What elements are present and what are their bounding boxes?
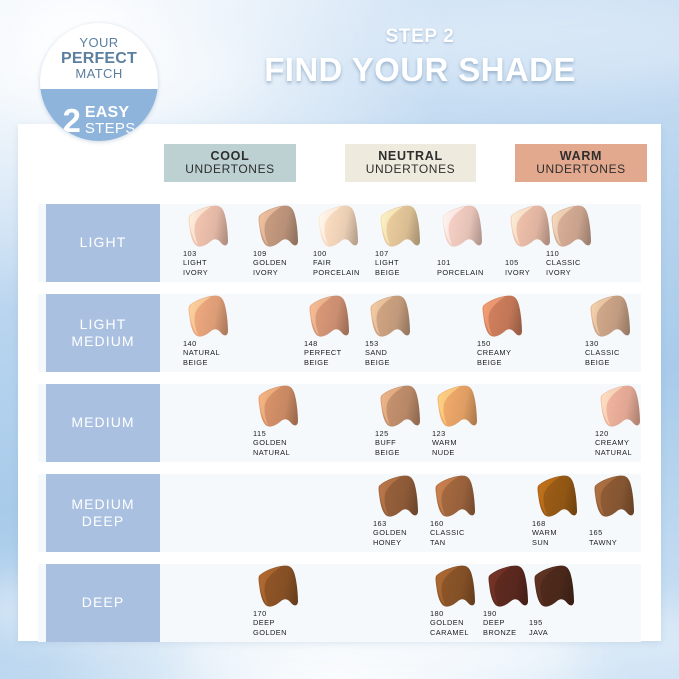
- shade-code: 160: [430, 519, 504, 529]
- shade-swatch-103[interactable]: 103LIGHTIVORY: [183, 204, 257, 282]
- shade-caption: 101PORCELAIN: [437, 258, 511, 278]
- shade-caption: 195JAVA: [529, 618, 603, 638]
- swatch-area: 163GOLDENHONEY160CLASSICTAN168WARMSUN165…: [18, 474, 661, 552]
- shade-swatch-150[interactable]: 150CREAMYBEIGE: [477, 294, 551, 372]
- shade-name: TAN: [430, 538, 504, 548]
- shade-swatch-101[interactable]: 101PORCELAIN: [437, 204, 511, 282]
- shade-code: 103: [183, 249, 257, 259]
- page-title: FIND YOUR SHADE: [200, 51, 640, 89]
- shade-code: 110: [546, 249, 620, 259]
- shade-code: 120: [595, 429, 669, 439]
- perfect-match-badge: YOUR PERFECT MATCH 2 EASY STEPS: [40, 23, 158, 141]
- shade-code: 195: [529, 618, 603, 628]
- shade-code: 140: [183, 339, 257, 349]
- shade-caption: 110CLASSICIVORY: [546, 249, 620, 278]
- undertone-header-warm: WARMUNDERTONES: [515, 144, 647, 182]
- shade-name: BEIGE: [365, 358, 439, 368]
- shade-code: 130: [585, 339, 659, 349]
- shade-name: NATURAL: [253, 448, 327, 458]
- title-block: STEP 2 FIND YOUR SHADE: [200, 26, 640, 89]
- shade-row: MEDIUM115GOLDENNATURAL125BUFFBEIGE123WAR…: [18, 384, 661, 462]
- shade-caption: 123WARMNUDE: [432, 429, 506, 458]
- shade-name: JAVA: [529, 628, 603, 638]
- shade-name: CLASSIC: [430, 528, 504, 538]
- shade-caption: 140NATURALBEIGE: [183, 339, 257, 368]
- shade-name: BEIGE: [477, 358, 551, 368]
- badge-step-number: 2: [62, 105, 80, 136]
- shade-swatch-165[interactable]: 165TAWNY: [589, 474, 663, 552]
- shade-row: LIGHT103LIGHTIVORY109GOLDENIVORY100FAIRP…: [18, 204, 661, 282]
- foundation-smear-shape: [526, 560, 583, 616]
- shade-swatch-170[interactable]: 170DEEPGOLDEN: [253, 564, 327, 642]
- shade-name: DEEP: [253, 618, 327, 628]
- shade-name: PORCELAIN: [437, 268, 511, 278]
- undertone-header-neutral: NEUTRALUNDERTONES: [345, 144, 476, 182]
- shade-caption: 160CLASSICTAN: [430, 519, 504, 548]
- shade-code: 115: [253, 429, 327, 439]
- shade-caption: 165TAWNY: [589, 528, 663, 548]
- shade-code: 153: [365, 339, 439, 349]
- foundation-smear-shape: [434, 200, 491, 256]
- swatch-area: 140NATURALBEIGE148PERFECTBEIGE153SANDBEI…: [18, 294, 661, 372]
- step-label: STEP 2: [200, 26, 640, 48]
- badge-line-perfect: PERFECT: [40, 50, 158, 67]
- badge-steps-text: EASY STEPS: [85, 105, 136, 136]
- shade-name: WARM: [432, 438, 506, 448]
- shade-name: GOLDEN: [253, 438, 327, 448]
- shade-code: 101: [437, 258, 511, 268]
- shade-color-smear: [586, 470, 643, 526]
- shade-swatch-140[interactable]: 140NATURALBEIGE: [183, 294, 257, 372]
- shade-name: GOLDEN: [253, 628, 327, 638]
- shade-name: CLASSIC: [546, 258, 620, 268]
- undertone-sublabel: UNDERTONES: [185, 163, 275, 176]
- shade-name: BEIGE: [183, 358, 257, 368]
- shade-swatch-120[interactable]: 120CREAMYNATURAL: [595, 384, 669, 462]
- shade-row: LIGHTMEDIUM140NATURALBEIGE148PERFECTBEIG…: [18, 294, 661, 372]
- badge-line-match: MATCH: [40, 67, 158, 81]
- shade-swatch-160[interactable]: 160CLASSICTAN: [430, 474, 504, 552]
- shade-row: MEDIUMDEEP163GOLDENHONEY160CLASSICTAN168…: [18, 474, 661, 552]
- swatch-area: 170DEEPGOLDEN180GOLDENCARAMEL190DEEPBRON…: [18, 564, 661, 642]
- shade-name: CREAMY: [595, 438, 669, 448]
- shade-caption: 130CLASSICBEIGE: [585, 339, 659, 368]
- shade-swatch-123[interactable]: 123WARMNUDE: [432, 384, 506, 462]
- shade-name: NUDE: [432, 448, 506, 458]
- shade-color-smear: [434, 200, 491, 256]
- badge-line-your: YOUR: [40, 36, 158, 50]
- shade-swatch-153[interactable]: 153SANDBEIGE: [365, 294, 439, 372]
- shade-code: 150: [477, 339, 551, 349]
- undertone-sublabel: UNDERTONES: [366, 163, 456, 176]
- shade-name: CREAMY: [477, 348, 551, 358]
- shade-swatch-110[interactable]: 110CLASSICIVORY: [546, 204, 620, 282]
- shade-name: NATURAL: [595, 448, 669, 458]
- undertone-header-cool: COOLUNDERTONES: [164, 144, 296, 182]
- shade-swatch-195[interactable]: 195JAVA: [529, 564, 603, 642]
- swatch-area: 115GOLDENNATURAL125BUFFBEIGE123WARMNUDE1…: [18, 384, 661, 462]
- shade-name: LIGHT: [183, 258, 257, 268]
- shade-name: SAND: [365, 348, 439, 358]
- shade-color-smear: [526, 560, 583, 616]
- shade-name: CLASSIC: [585, 348, 659, 358]
- badge-line-steps: STEPS: [85, 121, 136, 136]
- shade-name: BEIGE: [585, 358, 659, 368]
- shade-row: DEEP170DEEPGOLDEN180GOLDENCARAMEL190DEEP…: [18, 564, 661, 642]
- shade-caption: 153SANDBEIGE: [365, 339, 439, 368]
- shade-caption: 103LIGHTIVORY: [183, 249, 257, 278]
- undertone-header-row: COOLUNDERTONESNEUTRALUNDERTONESWARMUNDER…: [18, 144, 661, 186]
- shade-name: TAWNY: [589, 538, 663, 548]
- foundation-smear-shape: [586, 470, 643, 526]
- shade-code: 123: [432, 429, 506, 439]
- shade-caption: 150CREAMYBEIGE: [477, 339, 551, 368]
- shade-name: NATURAL: [183, 348, 257, 358]
- shade-swatch-115[interactable]: 115GOLDENNATURAL: [253, 384, 327, 462]
- undertone-sublabel: UNDERTONES: [536, 163, 626, 176]
- shade-caption: 170DEEPGOLDEN: [253, 609, 327, 638]
- shade-chart-card: COOLUNDERTONESNEUTRALUNDERTONESWARMUNDER…: [18, 124, 661, 641]
- shade-code: 170: [253, 609, 327, 619]
- shade-caption: 120CREAMYNATURAL: [595, 429, 669, 458]
- swatch-area: 103LIGHTIVORY109GOLDENIVORY100FAIRPORCEL…: [18, 204, 661, 282]
- badge-line-easy: EASY: [85, 105, 136, 121]
- shade-caption: 115GOLDENNATURAL: [253, 429, 327, 458]
- shade-code: 165: [589, 528, 663, 538]
- shade-name: IVORY: [183, 268, 257, 278]
- shade-name: IVORY: [546, 268, 620, 278]
- badge-bottom-text: 2 EASY STEPS: [40, 105, 158, 136]
- shade-swatch-130[interactable]: 130CLASSICBEIGE: [585, 294, 659, 372]
- badge-top-text: YOUR PERFECT MATCH: [40, 36, 158, 81]
